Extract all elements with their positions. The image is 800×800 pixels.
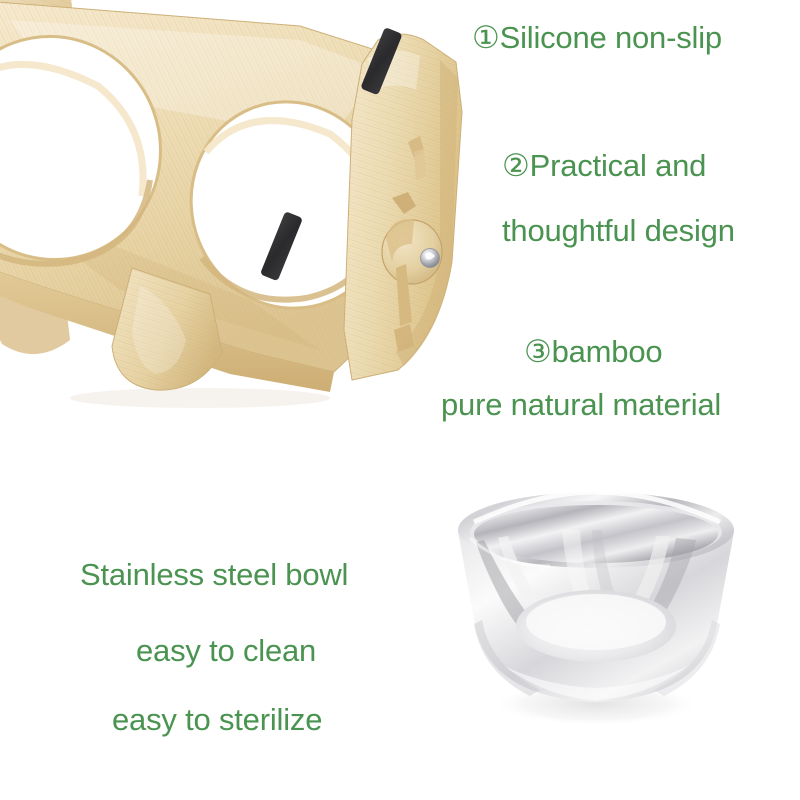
bowl-reflections	[476, 530, 696, 654]
bowl-inner-wall	[474, 505, 718, 563]
stand-far-panel	[0, 0, 86, 300]
stand-adjust-knob	[382, 192, 442, 326]
bowl-basin	[516, 590, 676, 662]
stand-screw	[421, 249, 440, 268]
stand-board-front-edge	[0, 262, 334, 392]
feature-2-line-1: ②Practical and	[502, 148, 706, 184]
bowl-outer-body	[458, 506, 734, 702]
feature-3-line-2: pure natural material	[441, 387, 721, 423]
stand-top-board	[0, 0, 420, 392]
stand-side-panel-right	[344, 34, 462, 380]
bowl-caption-line-2: easy to clean	[136, 633, 316, 669]
stand-notch-upper	[408, 136, 424, 158]
product-feature-image: ①Silicone non-slip ②Practical and though…	[0, 0, 800, 800]
bowl-cutout-left	[0, 6, 192, 290]
stand-knob-stem	[396, 264, 412, 326]
stand-front-leg	[112, 268, 222, 390]
stainless-bowl-photo	[430, 470, 760, 740]
feature-3-line-1: ③bamboo	[524, 334, 662, 370]
bowl-cutout-right	[160, 72, 420, 338]
bamboo-stand-photo	[0, 0, 470, 420]
silicone-pad-upper	[360, 27, 402, 95]
bowl-shadow	[492, 682, 700, 726]
bowl-caption-line-3: easy to sterilize	[112, 702, 322, 738]
stand-notch-lower	[394, 324, 414, 352]
bowl-caption-line-1: Stainless steel bowl	[80, 557, 348, 593]
bowl-rim	[458, 492, 734, 568]
silicone-pad-lower	[260, 211, 303, 281]
feature-2-line-2: thoughtful design	[502, 213, 735, 249]
stand-far-leg	[0, 250, 70, 354]
feature-1-text: ①Silicone non-slip	[472, 20, 722, 56]
